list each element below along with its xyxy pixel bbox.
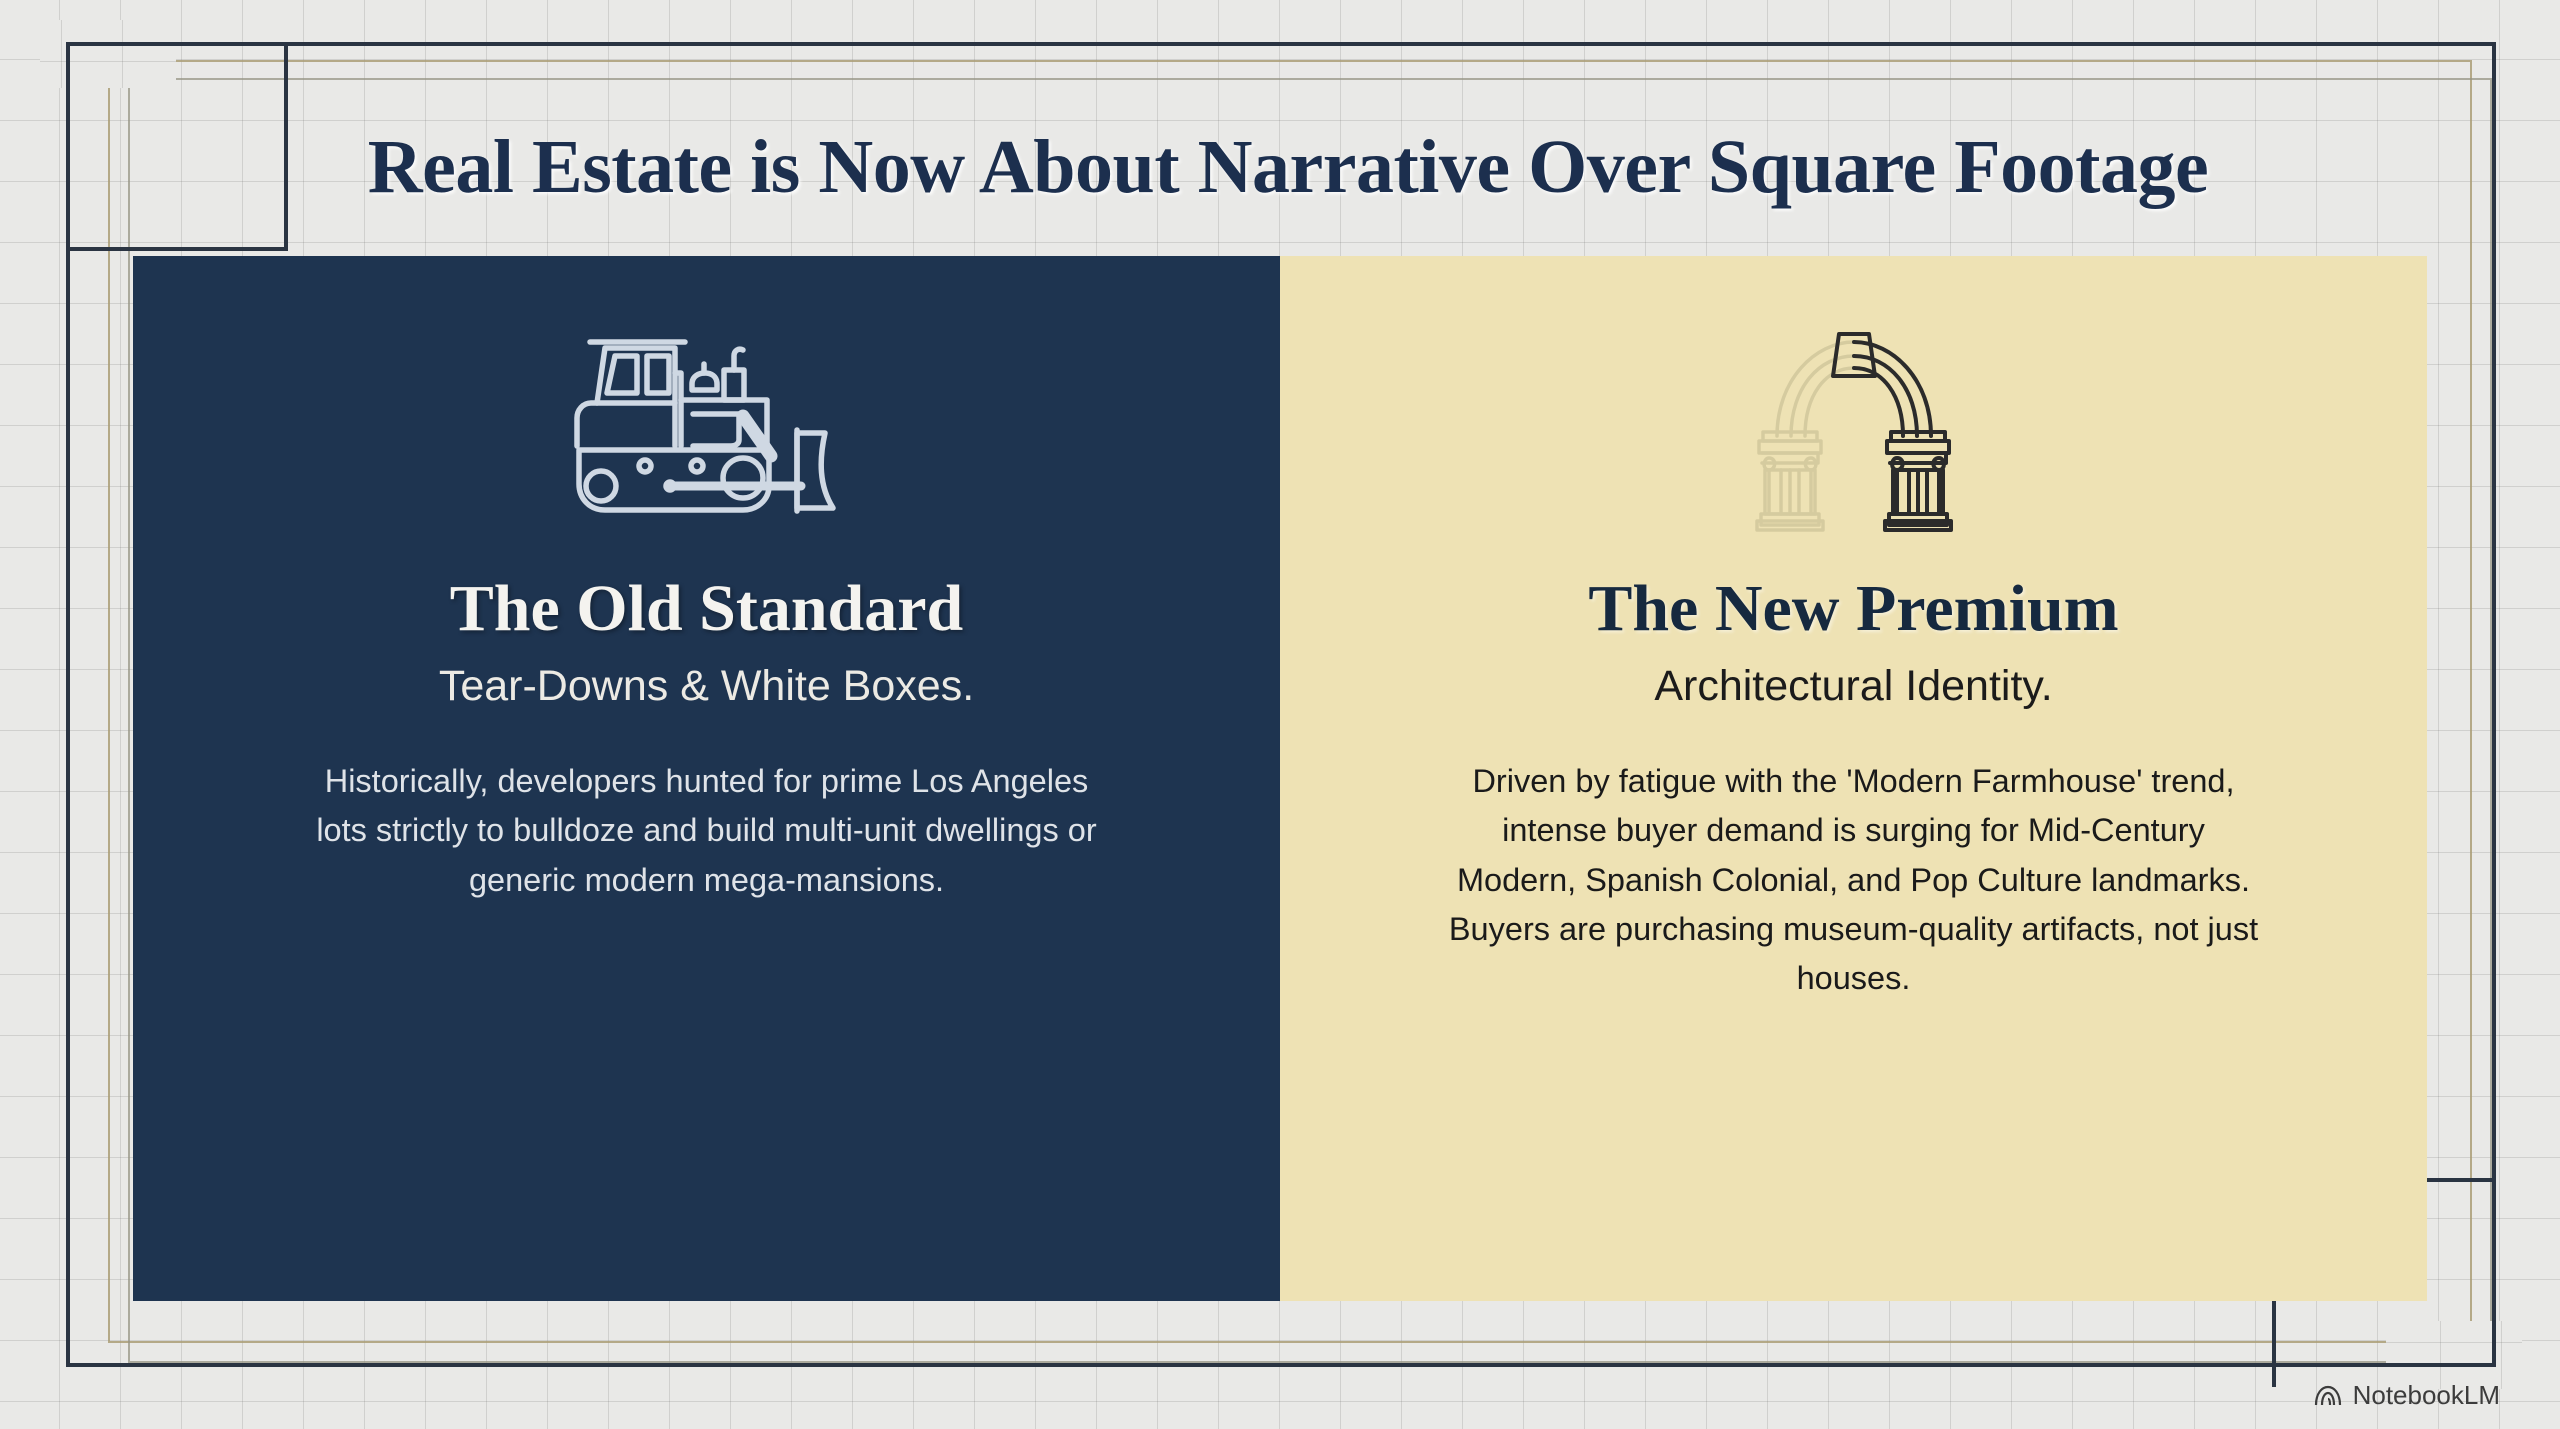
frame-notch-bottom-right	[2386, 1321, 2522, 1389]
panel-body-text: Driven by fatigue with the 'Modern Farmh…	[1444, 757, 2264, 1004]
notebooklm-watermark: NotebookLM	[2313, 1380, 2500, 1411]
bulldozer-icon	[557, 310, 857, 540]
panel-heading: The Old Standard	[450, 574, 964, 643]
panel-body-text: Historically, developers hunted for prim…	[297, 757, 1117, 905]
slide-title: Real Estate is Now About Narrative Over …	[148, 124, 2428, 211]
frame-notch-top-left	[40, 20, 176, 88]
frame-step-segment-tl-horizontal	[66, 247, 288, 251]
panel-old-standard: The Old Standard Tear-Downs & White Boxe…	[133, 256, 1280, 1301]
panel-heading: The New Premium	[1588, 574, 2118, 643]
panel-subheading: Tear-Downs & White Boxes.	[439, 661, 974, 713]
comparison-panels: The Old Standard Tear-Downs & White Boxe…	[133, 256, 2427, 1301]
slide-canvas: Real Estate is Now About Narrative Over …	[0, 0, 2560, 1429]
notebooklm-logo-icon	[2313, 1383, 2343, 1409]
panel-new-premium: The New Premium Architectural Identity. …	[1280, 256, 2427, 1301]
classical-arch-icon	[1729, 310, 1979, 540]
panel-subheading: Architectural Identity.	[1654, 661, 2052, 713]
notebooklm-label: NotebookLM	[2353, 1380, 2500, 1411]
